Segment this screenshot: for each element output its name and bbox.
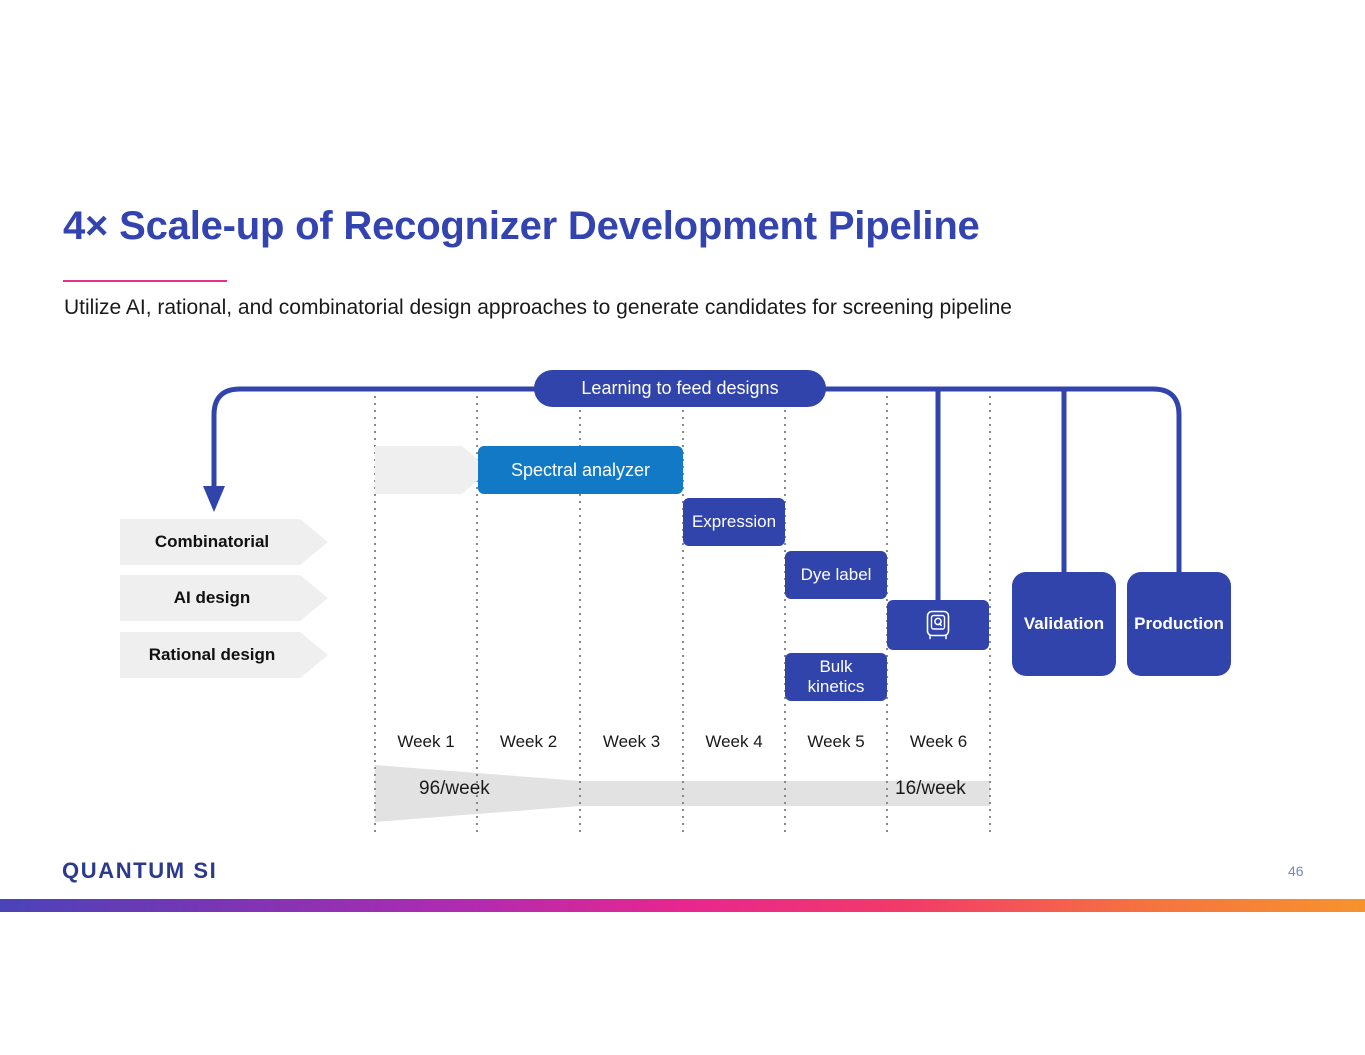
week-label-4: Week 4 bbox=[683, 728, 785, 756]
stage-dye-label-label: Dye label bbox=[801, 565, 872, 585]
throughput-end-text: 16/week bbox=[895, 778, 966, 800]
stage-bulk-kinetics-line2: kinetics bbox=[808, 677, 865, 697]
input-chevron-combinatorial[interactable]: Combinatorial bbox=[120, 519, 328, 565]
sequencer-instrument-icon bbox=[923, 609, 953, 641]
input-chevron-ai-design[interactable]: AI design bbox=[120, 575, 328, 621]
stage-spectral-analyzer[interactable]: Spectral analyzer bbox=[478, 446, 683, 494]
week-label-3: Week 3 bbox=[580, 728, 683, 756]
footer-gradient-bar bbox=[0, 899, 1365, 912]
input-chevron-ai-design-label: AI design bbox=[174, 588, 251, 608]
week-label-1: Week 1 bbox=[375, 728, 477, 756]
throughput-start-label: 96/week bbox=[419, 778, 490, 800]
input-chevron-rational-design[interactable]: Rational design bbox=[120, 632, 328, 678]
stage-bulk-kinetics[interactable]: Bulk kinetics bbox=[785, 653, 887, 701]
stage-expression-label: Expression bbox=[692, 512, 776, 532]
pipeline-diagram: Learning to feed designs Spectral analyz… bbox=[0, 0, 1365, 1055]
week-label-2-text: Week 2 bbox=[500, 732, 557, 752]
week-label-5: Week 5 bbox=[785, 728, 887, 756]
slide: 4× Scale-up of Recognizer Development Pi… bbox=[0, 0, 1365, 1055]
week-label-6: Week 6 bbox=[887, 728, 990, 756]
page-number: 46 bbox=[1288, 863, 1304, 879]
stage-dye-label[interactable]: Dye label bbox=[785, 551, 887, 599]
week-label-4-text: Week 4 bbox=[705, 732, 762, 752]
feedback-loop-label: Learning to feed designs bbox=[581, 378, 778, 399]
stage-bulk-kinetics-line1: Bulk bbox=[819, 657, 852, 677]
week-label-1-text: Week 1 bbox=[397, 732, 454, 752]
stage-validation-label: Validation bbox=[1024, 614, 1104, 634]
throughput-end-label: 16/week bbox=[895, 778, 966, 800]
week-label-6-text: Week 6 bbox=[910, 732, 967, 752]
input-chevron-rational-design-label: Rational design bbox=[149, 645, 276, 665]
stage-production[interactable]: Production bbox=[1127, 572, 1231, 676]
throughput-start-text: 96/week bbox=[419, 778, 490, 800]
stage-expression[interactable]: Expression bbox=[683, 498, 785, 546]
stage-validation[interactable]: Validation bbox=[1012, 572, 1116, 676]
feedback-loop-pill[interactable]: Learning to feed designs bbox=[534, 370, 826, 407]
input-chevron-combinatorial-label: Combinatorial bbox=[155, 532, 269, 552]
feedback-arrowhead bbox=[203, 486, 225, 512]
stage-production-label: Production bbox=[1134, 614, 1224, 634]
stage-sequencer-instrument[interactable] bbox=[887, 600, 989, 650]
brand-logo: QUANTUM SI bbox=[62, 858, 217, 884]
week-label-3-text: Week 3 bbox=[603, 732, 660, 752]
stage-spectral-analyzer-label: Spectral analyzer bbox=[511, 460, 650, 481]
week-label-5-text: Week 5 bbox=[807, 732, 864, 752]
week-label-2: Week 2 bbox=[477, 728, 580, 756]
